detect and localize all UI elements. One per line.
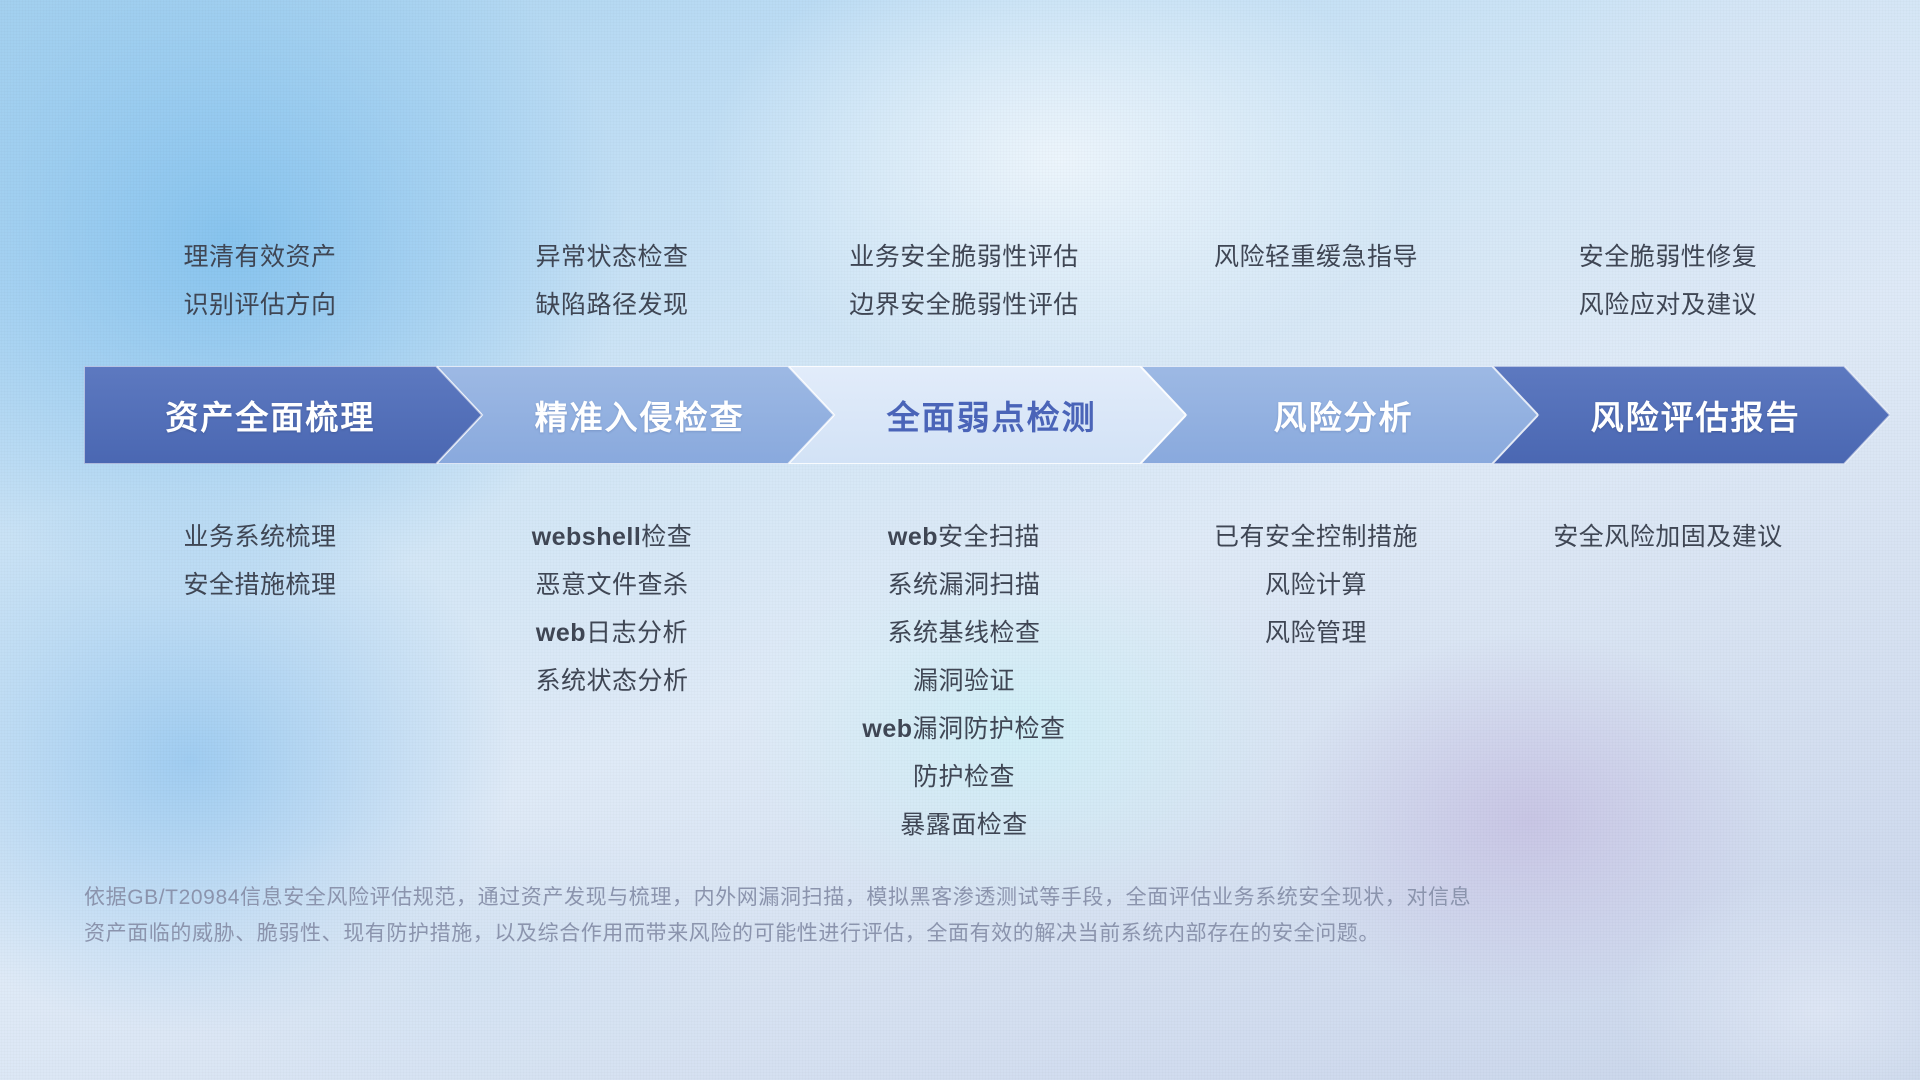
list-item: 边界安全脆弱性评估: [704, 281, 1224, 329]
stage-label: 资产全面梳理: [165, 391, 375, 439]
stage-chevron[interactable]: 全面弱点检测: [788, 366, 1186, 464]
stage-chevron[interactable]: 风险分析: [1140, 366, 1538, 464]
list-item: 暴露面检查: [704, 801, 1224, 849]
list-item: 风险管理: [1056, 609, 1576, 657]
list-item: 安全风险加固及建议: [1408, 513, 1920, 561]
footer-line-1: 依据GB/T20984信息安全风险评估规范，通过资产发现与梳理，内外网漏洞扫描，…: [84, 880, 1624, 916]
stage-chevron[interactable]: 风险评估报告: [1492, 366, 1890, 464]
list-item: 漏洞验证: [704, 657, 1224, 705]
footer-description: 依据GB/T20984信息安全风险评估规范，通过资产发现与梳理，内外网漏洞扫描，…: [84, 880, 1624, 952]
list-item: 风险应对及建议: [1408, 281, 1920, 329]
stage-chevron-band: 资产全面梳理 精准入侵检查 全面弱点检测: [84, 366, 1844, 464]
stage-label: 全面弱点检测: [887, 391, 1097, 439]
list-item: 安全脆弱性修复: [1408, 233, 1920, 281]
bottom-items-column-5: 安全风险加固及建议: [1408, 513, 1920, 561]
footer-line-2: 资产面临的威胁、脆弱性、现有防护措施，以及综合作用而带来风险的可能性进行评估，全…: [84, 916, 1624, 952]
list-item: web漏洞防护检查: [704, 705, 1224, 753]
stage-label: 风险评估报告: [1591, 391, 1801, 439]
stage-chevron[interactable]: 资产全面梳理: [84, 366, 482, 464]
stage-label: 风险分析: [1274, 391, 1414, 439]
stage-chevron[interactable]: 精准入侵检查: [436, 366, 834, 464]
process-diagram: 理清有效资产识别评估方向 异常状态检查缺陷路径发现 业务安全脆弱性评估边界安全脆…: [0, 0, 1920, 1080]
list-item: 风险计算: [1056, 561, 1576, 609]
stage-label: 精准入侵检查: [535, 391, 745, 439]
list-item: 防护检查: [704, 753, 1224, 801]
top-items-column-5: 安全脆弱性修复风险应对及建议: [1408, 233, 1920, 329]
